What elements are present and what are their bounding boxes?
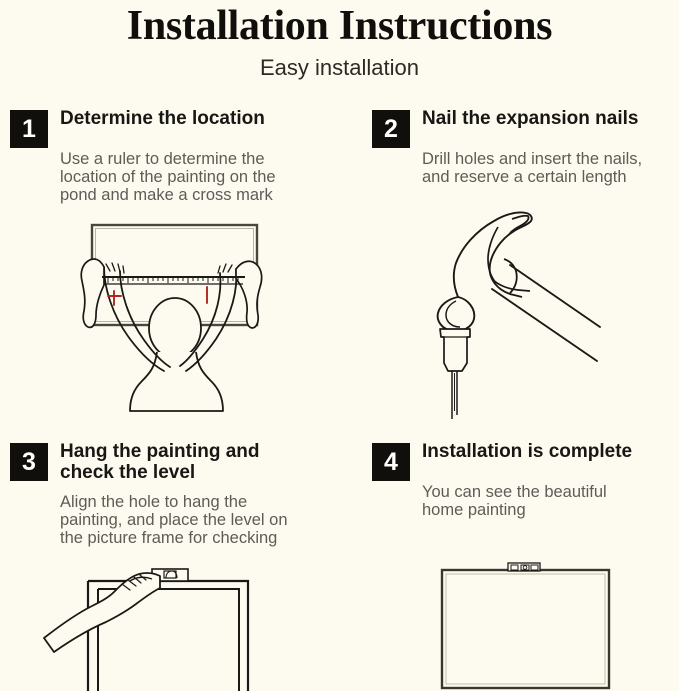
- hammer-handle-top-edge: [510, 265, 600, 327]
- step-2-header: 2 Nail the expansion nails: [372, 110, 672, 150]
- step-2: 2 Nail the expansion nails Drill holes a…: [372, 110, 672, 150]
- step-2-number-badge: 2: [372, 110, 410, 148]
- hammer-and-nail-illustration: [400, 205, 679, 427]
- infographic-page: Installation Instructions Easy installat…: [0, 0, 679, 691]
- step-4: 4 Installation is complete You can see t…: [372, 443, 672, 483]
- step-3-number-badge: 3: [10, 443, 48, 481]
- step-4-number-badge: 4: [372, 443, 410, 481]
- hung-frame-inner-line: [446, 574, 605, 684]
- step-1-illustration: [60, 215, 350, 430]
- step-3-title: Hang the painting and check the level: [60, 441, 260, 483]
- step-1-title: Determine the location: [60, 108, 265, 129]
- step-1-header: 1 Determine the location: [10, 110, 330, 150]
- step-3-header: 3 Hang the painting and check the level: [10, 443, 330, 483]
- step-1-body: Use a ruler to determine the location of…: [60, 150, 276, 204]
- step-4-illustration: [420, 552, 679, 691]
- hand-and-arm: [44, 573, 160, 652]
- page-subtitle: Easy installation: [0, 54, 679, 82]
- hammer-handle-bottom-edge: [492, 289, 597, 361]
- top-level-right-window: [531, 565, 538, 570]
- hand-level-frame-illustration: [40, 558, 350, 691]
- step-3-body: Align the hole to hang the painting, and…: [60, 493, 288, 547]
- step-4-title: Installation is complete: [422, 441, 632, 462]
- page-title: Installation Instructions: [0, 2, 679, 50]
- top-level-left-window: [511, 565, 518, 570]
- person-head: [149, 298, 201, 358]
- hung-painting-illustration: [420, 552, 679, 691]
- header: Installation Instructions Easy installat…: [0, 0, 679, 82]
- step-2-title: Nail the expansion nails: [422, 108, 638, 129]
- step-1: 1 Determine the location Use a ruler to …: [10, 110, 330, 150]
- step-2-body: Drill holes and insert the nails, and re…: [422, 150, 642, 186]
- person-torso: [130, 352, 223, 411]
- step-3-illustration: [40, 558, 350, 691]
- person-holding-frame-illustration: [60, 215, 350, 430]
- step-2-illustration: [400, 205, 679, 427]
- expansion-anchor-sleeve: [440, 329, 470, 371]
- step-4-header: 4 Installation is complete: [372, 443, 672, 483]
- step-4-body: You can see the beautiful home painting: [422, 483, 607, 519]
- step-3: 3 Hang the painting and check the level …: [10, 443, 330, 483]
- step-1-number-badge: 1: [10, 110, 48, 148]
